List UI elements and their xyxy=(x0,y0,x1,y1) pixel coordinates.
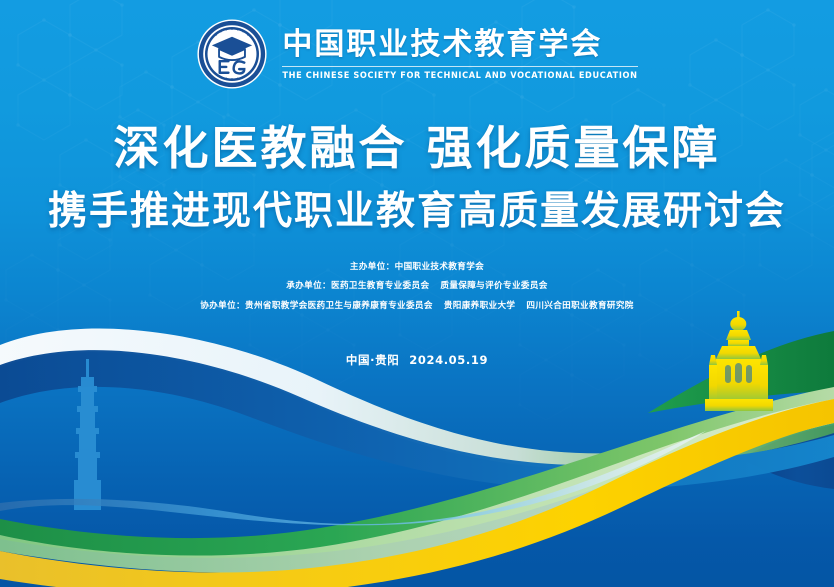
organizer-entity-undertaker-1: 质量保障与评价专业委员会 xyxy=(440,281,547,291)
wave-green-band xyxy=(0,387,834,558)
organizer-entity-co-1: 贵阳康养职业大学 xyxy=(444,301,516,311)
organizer-label-undertaker: 承办单位： xyxy=(286,281,331,291)
pagoda-tower-silhouette-icon xyxy=(74,359,101,510)
wave-yellow-ribbon xyxy=(0,399,834,587)
event-place: 中国·贵阳 xyxy=(346,353,399,367)
wave-right-dark xyxy=(742,425,834,489)
organizer-label-host: 主办单位： xyxy=(350,262,395,272)
event-datebar: 中国·贵阳2024.05.19 xyxy=(0,352,834,368)
wave-decoration xyxy=(0,307,834,587)
wave-white-ribbon xyxy=(0,329,834,470)
organizer-row-host: 主办单位：中国职业技术教育学会 xyxy=(350,262,484,272)
header-divider xyxy=(282,66,637,67)
event-date: 2024.05.19 xyxy=(409,353,488,367)
wave-blue-band xyxy=(0,431,706,525)
wave-right-green xyxy=(648,331,834,413)
conference-poster: 中国职业技术教育学会 THE CHINESE SOCIETY FOR TECHN… xyxy=(0,0,834,587)
graduation-cap-emblem-icon xyxy=(196,18,268,90)
header: 中国职业技术教育学会 THE CHINESE SOCIETY FOR TECHN… xyxy=(0,18,834,90)
poster-subtitle: 携手推进现代职业教育高质量发展研讨会 xyxy=(0,190,834,235)
organization-name-en: THE CHINESE SOCIETY FOR TECHNICAL AND VO… xyxy=(282,70,637,81)
wave-lightgreen-band xyxy=(0,399,834,573)
header-text-block: 中国职业技术教育学会 THE CHINESE SOCIETY FOR TECHN… xyxy=(282,28,637,80)
organization-name-cn: 中国职业技术教育学会 xyxy=(282,28,602,62)
organizer-entity-undertaker-0: 医药卫生教育专业委员会 xyxy=(331,281,429,291)
wave-left-darkbody xyxy=(0,350,834,489)
organizer-entity-co-2: 四川兴合田职业教育研究院 xyxy=(526,301,633,311)
organizers-block: 主办单位：中国职业技术教育学会 承办单位：医药卫生教育专业委员会质量保障与评价专… xyxy=(0,262,834,311)
organizer-row-undertaker: 承办单位：医药卫生教育专业委员会质量保障与评价专业委员会 xyxy=(286,281,547,291)
organizer-entity-co-0: 贵州省职教学会医药卫生与康养康育专业委员会 xyxy=(245,301,433,311)
organizer-label-coorganizer: 协办单位： xyxy=(200,301,245,311)
poster-main-title: 深化医教融合 强化质量保障 xyxy=(0,122,834,175)
organizer-row-coorganizer: 协办单位：贵州省职教学会医药卫生与康养康育专业委员会贵阳康养职业大学四川兴合田职… xyxy=(200,301,633,311)
organizer-entity-host-0: 中国职业技术教育学会 xyxy=(395,262,484,272)
